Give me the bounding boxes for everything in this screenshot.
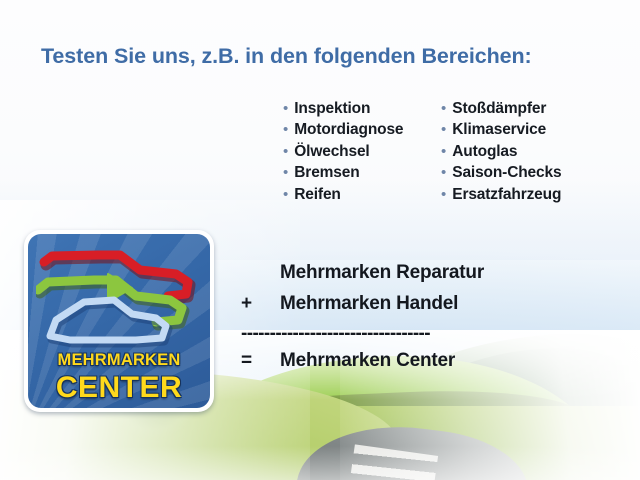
service-label: Stoßdämpfer xyxy=(452,100,546,118)
equation-term: Mehrmarken Center xyxy=(280,350,455,372)
service-label: Bremsen xyxy=(294,164,359,182)
three-cars-icon xyxy=(36,244,210,354)
bullet-icon: • xyxy=(441,101,446,116)
bullet-icon: • xyxy=(283,165,288,180)
equation-operator: = xyxy=(241,350,280,372)
service-label: Reifen xyxy=(294,186,340,204)
service-list-right: • Stoßdämpfer • Klimaservice • Autoglas … xyxy=(441,100,561,207)
list-item: • Motordiagnose xyxy=(283,121,403,142)
equation-row-result: = Mehrmarken Center xyxy=(241,350,571,381)
bullet-icon: • xyxy=(441,144,446,159)
list-item: • Ersatzfahrzeug xyxy=(441,186,561,207)
landscape-bottom-fade xyxy=(0,446,640,480)
list-item: • Inspektion xyxy=(283,100,403,121)
bullet-icon: • xyxy=(283,101,288,116)
service-label: Ölwechsel xyxy=(294,143,369,161)
bullet-icon: • xyxy=(441,187,446,202)
service-list-left: • Inspektion • Motordiagnose • Ölwechsel… xyxy=(283,100,403,207)
list-item: • Autoglas xyxy=(441,143,561,164)
bullet-icon: • xyxy=(283,187,288,202)
page-title: Testen Sie uns, z.B. in den folgenden Be… xyxy=(41,44,532,69)
list-item: • Ölwechsel xyxy=(283,143,403,164)
list-item: • Klimaservice xyxy=(441,121,561,142)
logo-line-two: CENTER xyxy=(28,371,210,405)
bullet-icon: • xyxy=(441,122,446,137)
mehrmarken-center-logo: MEHRMARKEN CENTER xyxy=(24,230,214,412)
slide-canvas: Testen Sie uns, z.B. in den folgenden Be… xyxy=(0,0,640,480)
list-item: • Bremsen xyxy=(283,164,403,185)
bullet-icon: • xyxy=(441,165,446,180)
equation-row-handel: + Mehrmarken Handel xyxy=(241,293,571,324)
equation-operator: + xyxy=(241,293,280,315)
equation-term: Mehrmarken Reparatur xyxy=(280,262,484,284)
equation-block: Mehrmarken Reparatur + Mehrmarken Handel… xyxy=(241,262,571,381)
service-label: Inspektion xyxy=(294,100,370,118)
service-label: Ersatzfahrzeug xyxy=(452,186,561,204)
service-label: Klimaservice xyxy=(452,121,546,139)
equation-term: Mehrmarken Handel xyxy=(280,293,458,315)
bullet-icon: • xyxy=(283,122,288,137)
service-label: Motordiagnose xyxy=(294,121,403,139)
service-label: Autoglas xyxy=(452,143,517,161)
logo-line-one: MEHRMARKEN xyxy=(28,351,210,370)
list-item: • Saison-Checks xyxy=(441,164,561,185)
equation-divider: --------------------------------- xyxy=(241,324,571,350)
list-item: • Stoßdämpfer xyxy=(441,100,561,121)
bullet-icon: • xyxy=(283,144,288,159)
logo-panel: MEHRMARKEN CENTER xyxy=(28,234,210,408)
service-label: Saison-Checks xyxy=(452,164,561,182)
equation-row-reparatur: Mehrmarken Reparatur xyxy=(241,262,571,293)
list-item: • Reifen xyxy=(283,186,403,207)
